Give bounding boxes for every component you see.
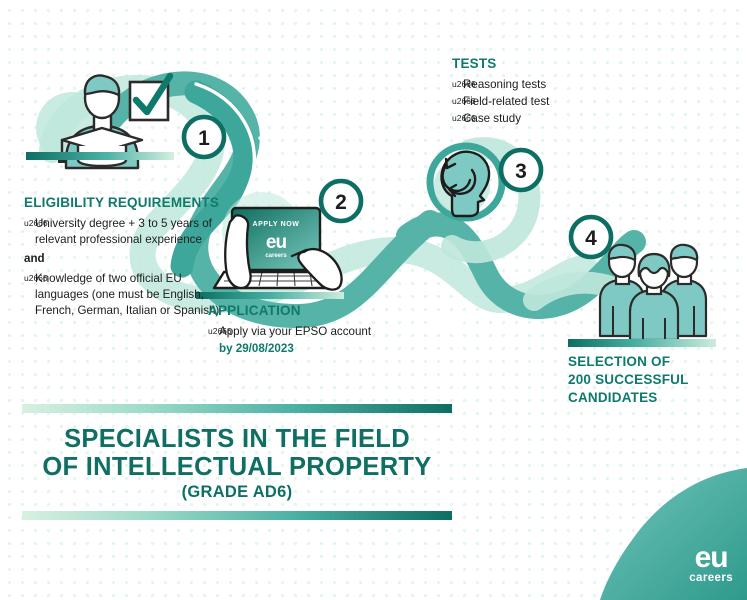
step-1-badge: 1 <box>184 117 224 157</box>
step-4-heading-line3: CANDIDATES <box>568 390 658 405</box>
step-1-text-block: ELIGIBILITY REQUIREMENTS University degr… <box>24 195 229 319</box>
logo-primary-text: eu <box>689 544 733 571</box>
title-rule-bottom <box>22 511 452 520</box>
list-item: University degree + 3 to 5 years of rele… <box>24 216 229 248</box>
page-subtitle: (GRADE AD6) <box>22 483 452 502</box>
infographic-poster: 1 APPLY NOW eu careers <box>0 0 747 600</box>
step-4-heading-line1: SELECTION OF <box>568 354 670 369</box>
list-item: Reasoning tests <box>452 77 642 93</box>
list-item: Apply via your EPSO account <box>208 324 393 340</box>
page-title: SPECIALISTS IN THE FIELD OF INTELLECTUAL… <box>22 426 452 481</box>
step-1-bullet-list: University degree + 3 to 5 years of rele… <box>24 216 229 248</box>
page-title-line1: SPECIALISTS IN THE FIELD <box>64 425 410 453</box>
list-item: Field-related test <box>452 94 642 110</box>
step-3-bullet-list: Reasoning tests Field-related test Case … <box>452 77 642 127</box>
list-item: Case study <box>452 111 642 127</box>
eu-careers-logo: eu careers <box>689 544 733 584</box>
laptop-screen-label: APPLY NOW <box>252 221 299 228</box>
step-1-connector: and <box>24 251 229 267</box>
step-1-bullet-list-2: Knowledge of two official EU languages (… <box>24 271 229 319</box>
graduate-checkmark-icon <box>26 76 174 168</box>
step-2-deadline: by 29/08/2023 <box>208 341 393 357</box>
step-2-text-block: APPLICATION Apply via your EPSO account … <box>208 303 393 357</box>
poster-title-block: SPECIALISTS IN THE FIELD OF INTELLECTUAL… <box>22 404 452 520</box>
step-2-number: 2 <box>335 191 347 214</box>
laptop-screen-logo-sub: careers <box>265 253 287 259</box>
step-3-heading: TESTS <box>452 56 642 73</box>
step-4-number: 4 <box>585 227 597 250</box>
list-item: Knowledge of two official EU languages (… <box>24 271 229 319</box>
step-4-heading-line2: 200 SUCCESSFUL <box>568 372 689 387</box>
step-4-text-block: SELECTION OF 200 SUCCESSFUL CANDIDATES <box>568 353 743 406</box>
step-4-heading: SELECTION OF 200 SUCCESSFUL CANDIDATES <box>568 353 743 406</box>
logo-secondary-text: careers <box>689 572 733 584</box>
step-1-number: 1 <box>198 127 210 150</box>
step-2-badge: 2 <box>321 181 361 221</box>
step-3-number: 3 <box>515 160 527 183</box>
page-title-line2: OF INTELLECTUAL PROPERTY <box>42 453 431 481</box>
step-4-badge: 4 <box>571 217 611 257</box>
step-3-text-block: TESTS Reasoning tests Field-related test… <box>452 56 642 128</box>
step-2-bullet-list: Apply via your EPSO account <box>208 324 393 340</box>
head-thinking-icon <box>430 146 502 218</box>
laptop-screen-logo: eu <box>266 232 287 253</box>
step-2-heading: APPLICATION <box>208 303 393 320</box>
step-3-badge: 3 <box>501 150 541 190</box>
step-1-heading: ELIGIBILITY REQUIREMENTS <box>24 195 229 212</box>
title-rule-top <box>22 404 452 413</box>
